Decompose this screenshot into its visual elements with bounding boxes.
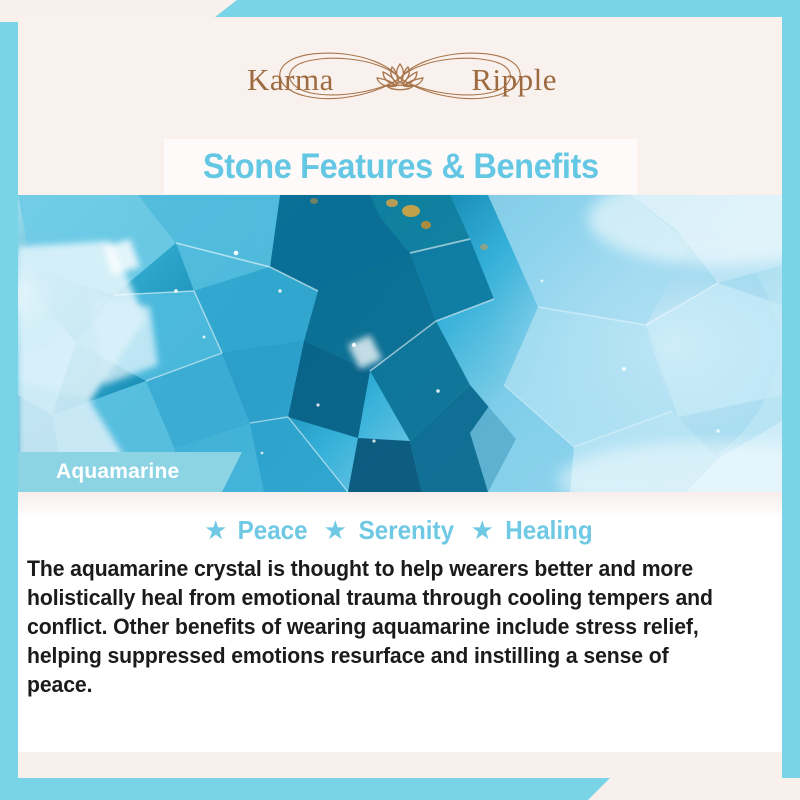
stone-name-label: Aquamarine <box>56 460 179 484</box>
infographic-page: Karma Ripple Stone Features & Benefits <box>0 0 800 800</box>
keyword-label: Serenity <box>359 515 454 546</box>
decorative-band-right <box>782 0 800 778</box>
page-title: Stone Features & Benefits <box>203 147 599 187</box>
keyword-list: ★ Peace ★ Serenity ★ Healing <box>18 515 782 546</box>
title-banner: Stone Features & Benefits <box>164 139 637 194</box>
brand-name-left: Karma <box>247 62 334 98</box>
keyword-item-healing: ★ Healing <box>471 515 596 546</box>
keyword-label: Healing <box>505 515 592 546</box>
brand-logo: Karma Ripple <box>18 17 782 139</box>
bottom-strip <box>18 752 782 778</box>
star-icon: ★ <box>324 517 347 543</box>
keyword-item-serenity: ★ Serenity <box>324 515 458 546</box>
stone-name-tag: Aquamarine <box>18 452 242 492</box>
decorative-band-bottom <box>0 778 610 800</box>
star-icon: ★ <box>471 517 494 543</box>
decorative-band-top <box>215 0 800 17</box>
keyword-label: Peace <box>238 515 308 546</box>
hero-crystal-image <box>18 195 782 492</box>
decorative-band-left <box>0 22 18 800</box>
keyword-item-peace: ★ Peace <box>204 515 311 546</box>
description-paragraph: The aquamarine crystal is thought to hel… <box>27 554 734 699</box>
brand-name-right: Ripple <box>471 62 557 98</box>
star-icon: ★ <box>204 517 227 543</box>
content-panel: ★ Peace ★ Serenity ★ Healing The aquamar… <box>18 492 782 752</box>
